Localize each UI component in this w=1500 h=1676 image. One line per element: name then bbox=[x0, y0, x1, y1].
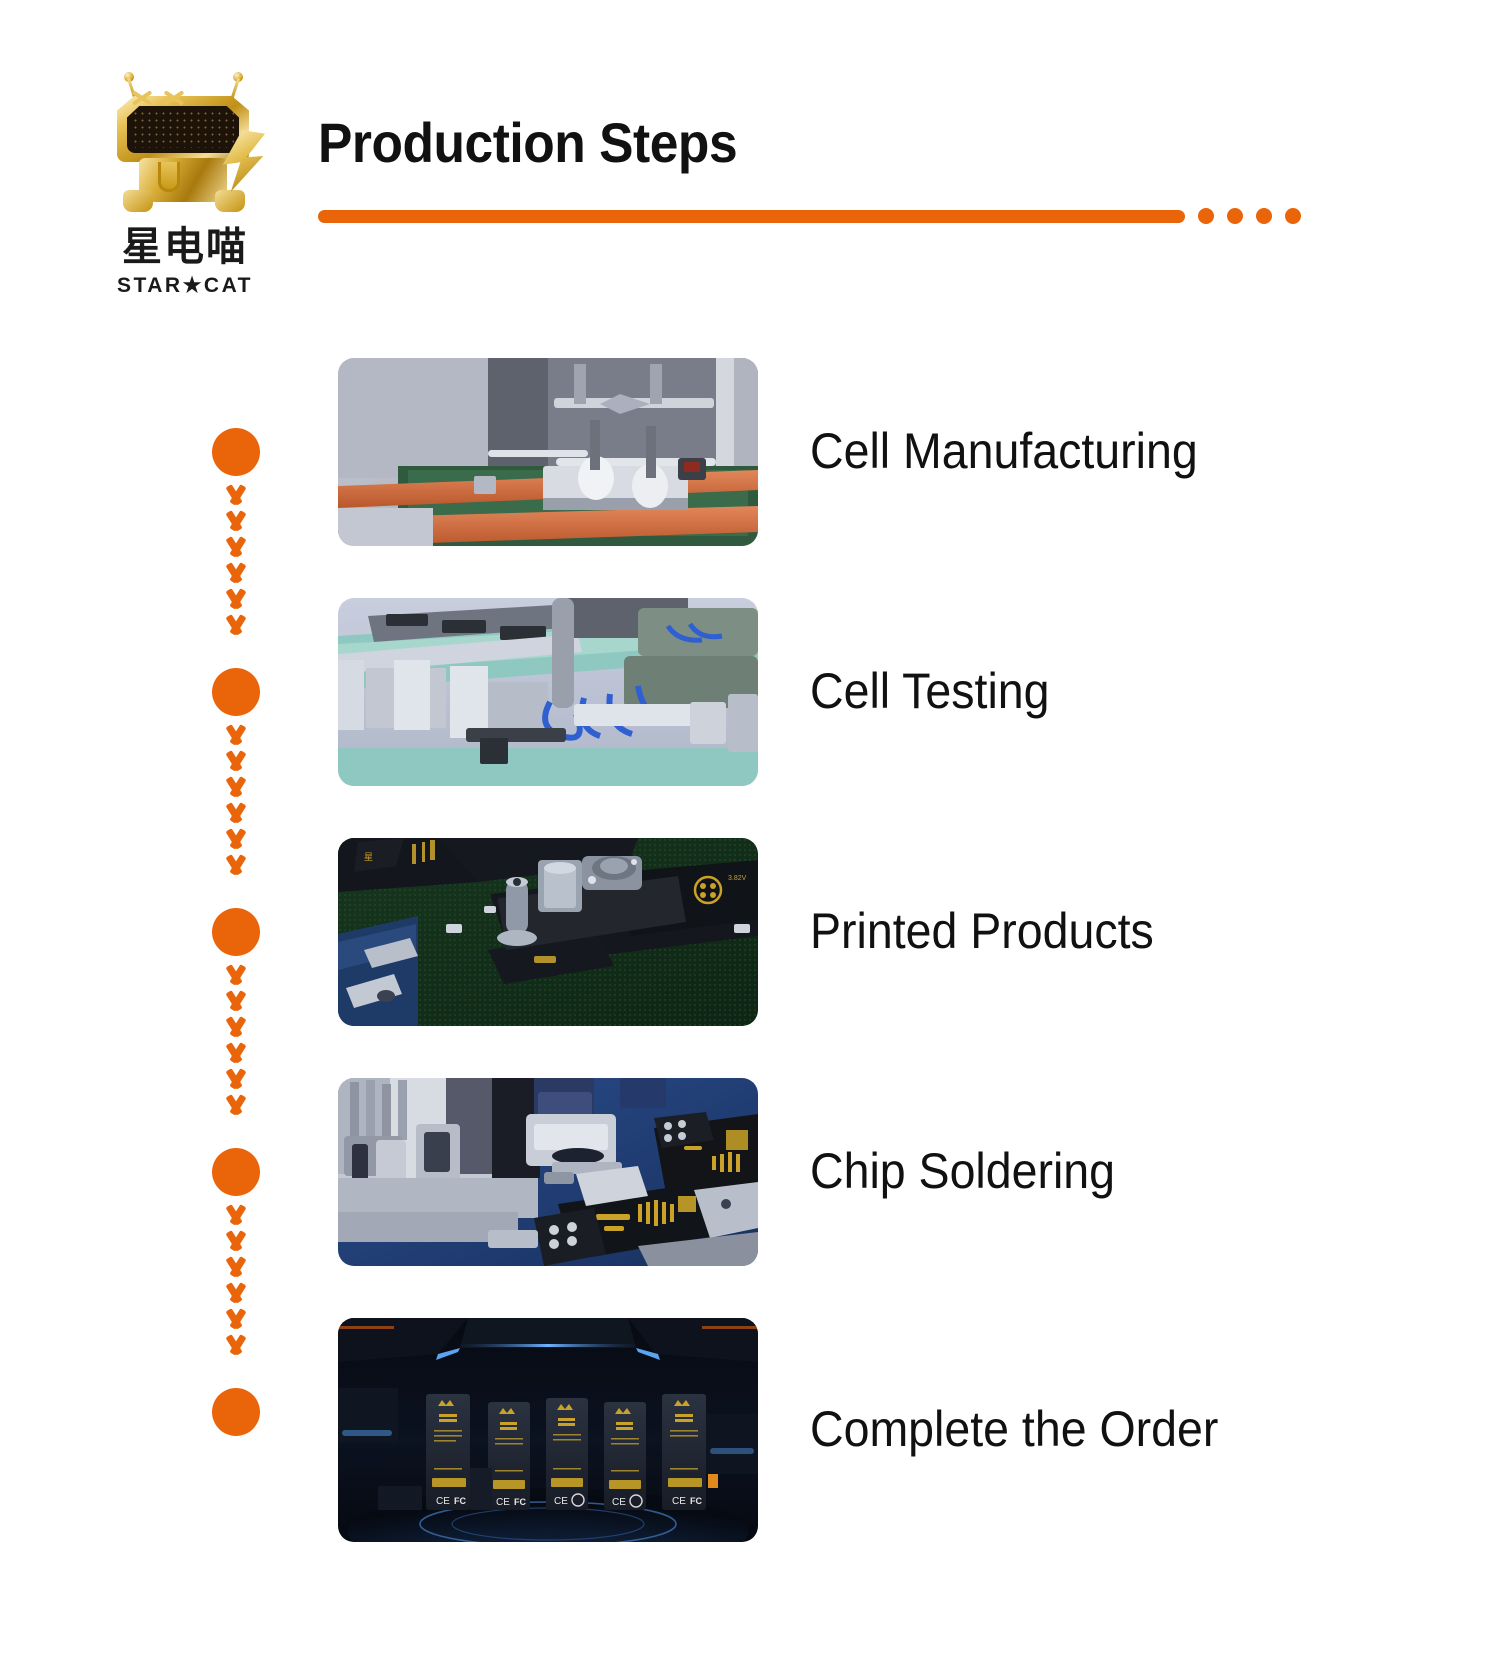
timeline-node-3 bbox=[212, 908, 260, 956]
chevron-down-icon bbox=[222, 1232, 250, 1250]
chevron-down-icon bbox=[222, 778, 250, 796]
production-steps-timeline: Cell Manufacturing bbox=[0, 330, 1500, 1550]
page-title: Production Steps bbox=[318, 112, 1146, 174]
cell-testing-photo[interactable] bbox=[338, 598, 758, 786]
timeline-rail bbox=[206, 1290, 266, 1550]
printed-products-photo[interactable]: 星 3.82V bbox=[338, 838, 758, 1026]
chevron-down-icon bbox=[222, 1258, 250, 1276]
step-label: Chip Soldering bbox=[810, 1142, 1115, 1200]
brand-name-en: STAR★CAT bbox=[90, 273, 280, 298]
title-block: Production Steps bbox=[318, 112, 1218, 174]
rule-dot-4-icon bbox=[1285, 208, 1301, 224]
robot-eye-left-icon bbox=[131, 88, 153, 106]
chevron-down-icon bbox=[222, 538, 250, 556]
robot-eye-right-icon bbox=[163, 88, 185, 106]
step-row: CE FC CE FC bbox=[0, 1290, 1500, 1550]
step-label: Printed Products bbox=[810, 902, 1154, 960]
step-row: Cell Manufacturing bbox=[0, 330, 1500, 570]
title-rule-bar bbox=[318, 210, 1185, 223]
chevron-down-icon bbox=[222, 992, 250, 1010]
chevron-down-icon bbox=[222, 486, 250, 504]
rule-dot-3-icon bbox=[1256, 208, 1272, 224]
title-underline-decoration bbox=[318, 208, 1301, 224]
chevron-down-icon bbox=[222, 726, 250, 744]
step-label: Cell Manufacturing bbox=[810, 422, 1198, 480]
svg-text:FC: FC bbox=[514, 1497, 526, 1507]
timeline-rail bbox=[206, 570, 266, 810]
robot-paw-left-icon bbox=[123, 190, 153, 212]
robot-paw-right-icon bbox=[215, 190, 245, 212]
svg-text:CE: CE bbox=[554, 1496, 568, 1507]
starcat-robot-logo-icon bbox=[105, 72, 265, 217]
timeline-node-5 bbox=[212, 1388, 260, 1436]
chevron-down-icon bbox=[222, 1018, 250, 1036]
rule-dot-2-icon bbox=[1227, 208, 1243, 224]
chip-soldering-photo[interactable] bbox=[338, 1078, 758, 1266]
robot-belly-icon bbox=[158, 162, 180, 192]
svg-text:星: 星 bbox=[364, 852, 373, 863]
rule-dot-1-icon bbox=[1198, 208, 1214, 224]
cell-manufacturing-photo[interactable] bbox=[338, 358, 758, 546]
svg-text:CE: CE bbox=[496, 1497, 510, 1508]
complete-order-photo[interactable]: CE FC CE FC bbox=[338, 1318, 758, 1542]
chevron-down-icon bbox=[222, 966, 250, 984]
svg-text:CE: CE bbox=[672, 1496, 686, 1507]
chevron-down-icon bbox=[222, 512, 250, 530]
step-row: Chip Soldering bbox=[0, 1050, 1500, 1290]
svg-text:FC: FC bbox=[690, 1496, 702, 1506]
chevron-down-icon bbox=[222, 1206, 250, 1224]
step-row: Cell Testing bbox=[0, 570, 1500, 810]
robot-face-screen-icon bbox=[127, 105, 239, 153]
step-row: 星 3.82V bbox=[0, 810, 1500, 1050]
chevron-down-icon bbox=[222, 752, 250, 770]
brand-logo: 星电喵 STAR★CAT bbox=[90, 72, 280, 298]
timeline-node-2 bbox=[212, 668, 260, 716]
timeline-rail bbox=[206, 330, 266, 570]
svg-text:CE: CE bbox=[436, 1496, 450, 1507]
svg-text:FC: FC bbox=[454, 1496, 466, 1506]
step-label: Complete the Order bbox=[810, 1400, 1218, 1458]
brand-name-cn: 星电喵 bbox=[90, 227, 280, 267]
timeline-node-4 bbox=[212, 1148, 260, 1196]
timeline-rail bbox=[206, 1050, 266, 1290]
svg-text:CE: CE bbox=[612, 1497, 626, 1508]
timeline-node-1 bbox=[212, 428, 260, 476]
page-header: 星电喵 STAR★CAT Production Steps bbox=[0, 0, 1500, 330]
step-label: Cell Testing bbox=[810, 662, 1050, 720]
svg-text:3.82V: 3.82V bbox=[728, 875, 747, 882]
timeline-rail bbox=[206, 810, 266, 1050]
